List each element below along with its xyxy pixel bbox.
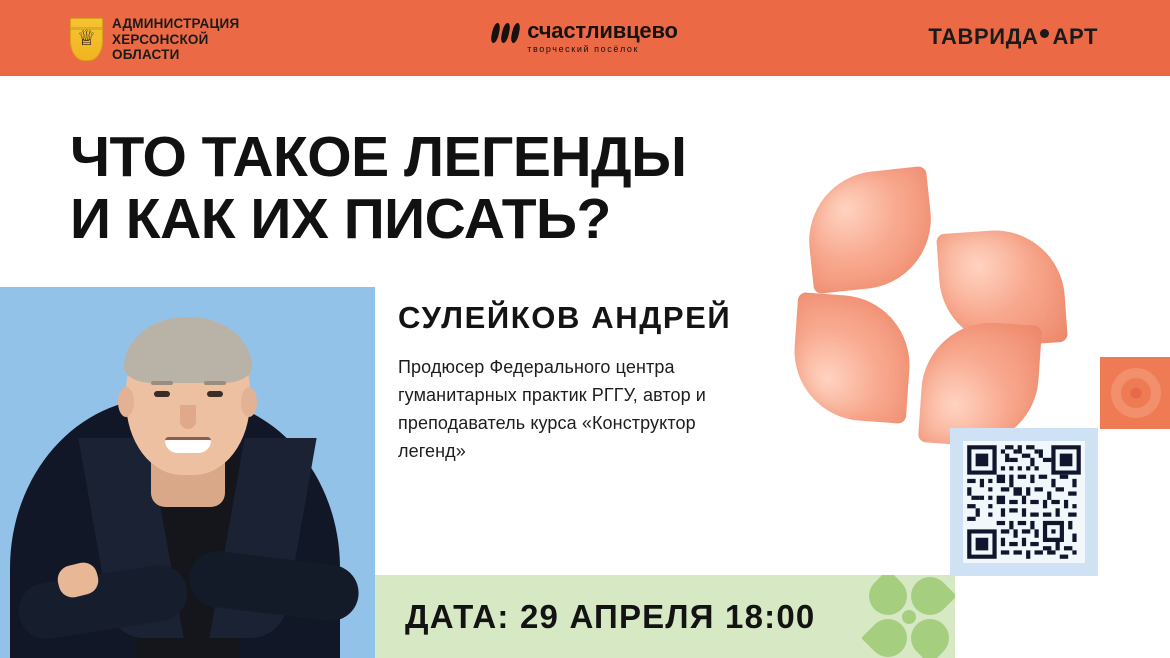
tavrida-word: ТАВРИДА bbox=[928, 24, 1038, 50]
portrait-eye-right bbox=[207, 391, 223, 397]
pinwheel-hub bbox=[902, 610, 916, 624]
pinwheel-ornament-icon bbox=[867, 575, 951, 658]
qr-code-icon[interactable] bbox=[963, 441, 1085, 563]
tavrida-art-logo: ТАВРИДА АРТ bbox=[928, 24, 1098, 50]
event-poster: ♕ АДМИНИСТРАЦИЯ ХЕРСОНСКОЙ ОБЛАСТИ счаст… bbox=[0, 0, 1170, 658]
target-ring-center bbox=[1131, 388, 1142, 399]
portrait-eye-left bbox=[154, 391, 170, 397]
portrait-brow-right bbox=[204, 381, 226, 385]
schastlivtsevo-title: счастливцево bbox=[527, 20, 677, 42]
portrait-hair bbox=[124, 317, 252, 383]
qr-code-panel[interactable] bbox=[950, 428, 1098, 576]
headline-line-1: ЧТО ТАКОЕ ЛЕГЕНДЫ bbox=[70, 125, 686, 189]
header-bar: ♕ АДМИНИСТРАЦИЯ ХЕРСОНСКОЙ ОБЛАСТИ счаст… bbox=[0, 0, 1170, 76]
speaker-bio: Продюсер Федерального центра гуманитарны… bbox=[398, 353, 758, 465]
four-petal-flower-icon bbox=[790, 168, 1090, 458]
headline-line-2: И КАК ИХ ПИСАТЬ? bbox=[70, 188, 810, 250]
concentric-circles-icon bbox=[1100, 357, 1170, 429]
portrait-brow-left bbox=[151, 381, 173, 385]
flower-petal-bottom-left bbox=[790, 292, 914, 424]
three-slashes-icon bbox=[492, 23, 519, 43]
flower-petal-top-left bbox=[802, 166, 937, 294]
date-band: ДАТА: 29 АПРЕЛЯ 18:00 bbox=[375, 575, 955, 658]
event-date-text: ДАТА: 29 АПРЕЛЯ 18:00 bbox=[405, 598, 815, 636]
portrait-nose bbox=[180, 405, 196, 429]
portrait-mouth bbox=[165, 437, 211, 453]
portrait-ear-right bbox=[241, 387, 257, 417]
speaker-name: СУЛЕЙКОВ АНДРЕЙ bbox=[398, 300, 731, 336]
schastlivtsevo-subtitle: творческий посёлок bbox=[527, 45, 639, 54]
dot-separator-icon bbox=[1040, 29, 1049, 38]
page-title: ЧТО ТАКОЕ ЛЕГЕНДЫ И КАК ИХ ПИСАТЬ? bbox=[70, 126, 810, 250]
portrait-ear-left bbox=[118, 387, 134, 417]
speaker-portrait bbox=[0, 287, 375, 658]
art-word: АРТ bbox=[1052, 24, 1098, 50]
